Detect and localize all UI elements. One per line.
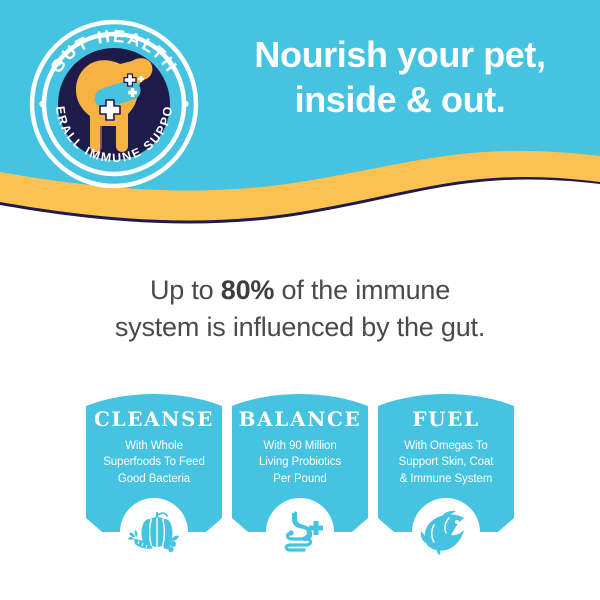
card-desc-line-3: & Immune System (400, 473, 492, 485)
card-title: BALANCE (232, 409, 368, 429)
card-desc-line-2: Support Skin, Coat (399, 456, 494, 468)
card-description: With Omegas To Support Skin, Coat & Immu… (378, 438, 514, 487)
badge-dot-right (182, 101, 188, 107)
card-desc-line-2: Superfoods To Feed (103, 456, 205, 468)
headline-line-2: inside & out. (215, 77, 585, 122)
pumpkin-vegetables-icon (120, 498, 188, 566)
benefit-card-cleanse: CLEANSE With Whole Superfoods To Feed Go… (86, 392, 222, 577)
fish-icon (412, 498, 480, 566)
subheading-text-after: of the immune (274, 275, 450, 305)
card-text-block: FUEL With Omegas To Support Skin, Coat &… (378, 392, 514, 487)
badge-dot-left (39, 101, 45, 107)
headline-line-1: Nourish your pet, (215, 32, 585, 77)
subheading-text-before: Up to (150, 275, 221, 305)
card-description: With Whole Superfoods To Feed Good Bacte… (86, 438, 222, 487)
benefit-cards: CLEANSE With Whole Superfoods To Feed Go… (0, 392, 600, 577)
card-text-block: BALANCE With 90 Million Living Probiotic… (232, 392, 368, 487)
badge-graphic: GUT HEALTH OVERALL IMMUNE SUPPORT (28, 18, 200, 190)
subheading-stat: 80% (221, 275, 274, 305)
card-desc-line-3: Good Bacteria (118, 473, 190, 485)
card-text-block: CLEANSE With Whole Superfoods To Feed Go… (86, 392, 222, 487)
card-title: CLEANSE (86, 409, 222, 429)
subheading-line-2: system is influenced by the gut. (50, 309, 550, 346)
hero-headline: Nourish your pet, inside & out. (215, 32, 585, 122)
gut-health-infographic: GUT HEALTH OVERALL IMMUNE SUPPORT Nouris… (0, 0, 600, 600)
card-desc-line-3: Per Pound (273, 473, 326, 485)
card-desc-line-2: Living Probiotics (259, 456, 341, 468)
subheading-line-1: Up to 80% of the immune (50, 272, 550, 309)
subheading: Up to 80% of the immune system is influe… (50, 272, 550, 345)
card-description: With 90 Million Living Probiotics Per Po… (232, 438, 368, 487)
card-desc-line-1: With Whole (125, 440, 183, 452)
benefit-card-balance: BALANCE With 90 Million Living Probiotic… (232, 392, 368, 577)
benefit-card-fuel: FUEL With Omegas To Support Skin, Coat &… (378, 392, 514, 577)
card-desc-line-1: With 90 Million (263, 440, 336, 452)
stomach-intestine-icon (266, 498, 334, 566)
card-title: FUEL (378, 409, 514, 429)
gut-health-badge: GUT HEALTH OVERALL IMMUNE SUPPORT (28, 18, 200, 190)
card-desc-line-1: With Omegas To (404, 440, 487, 452)
hero-banner: GUT HEALTH OVERALL IMMUNE SUPPORT Nouris… (0, 0, 600, 245)
